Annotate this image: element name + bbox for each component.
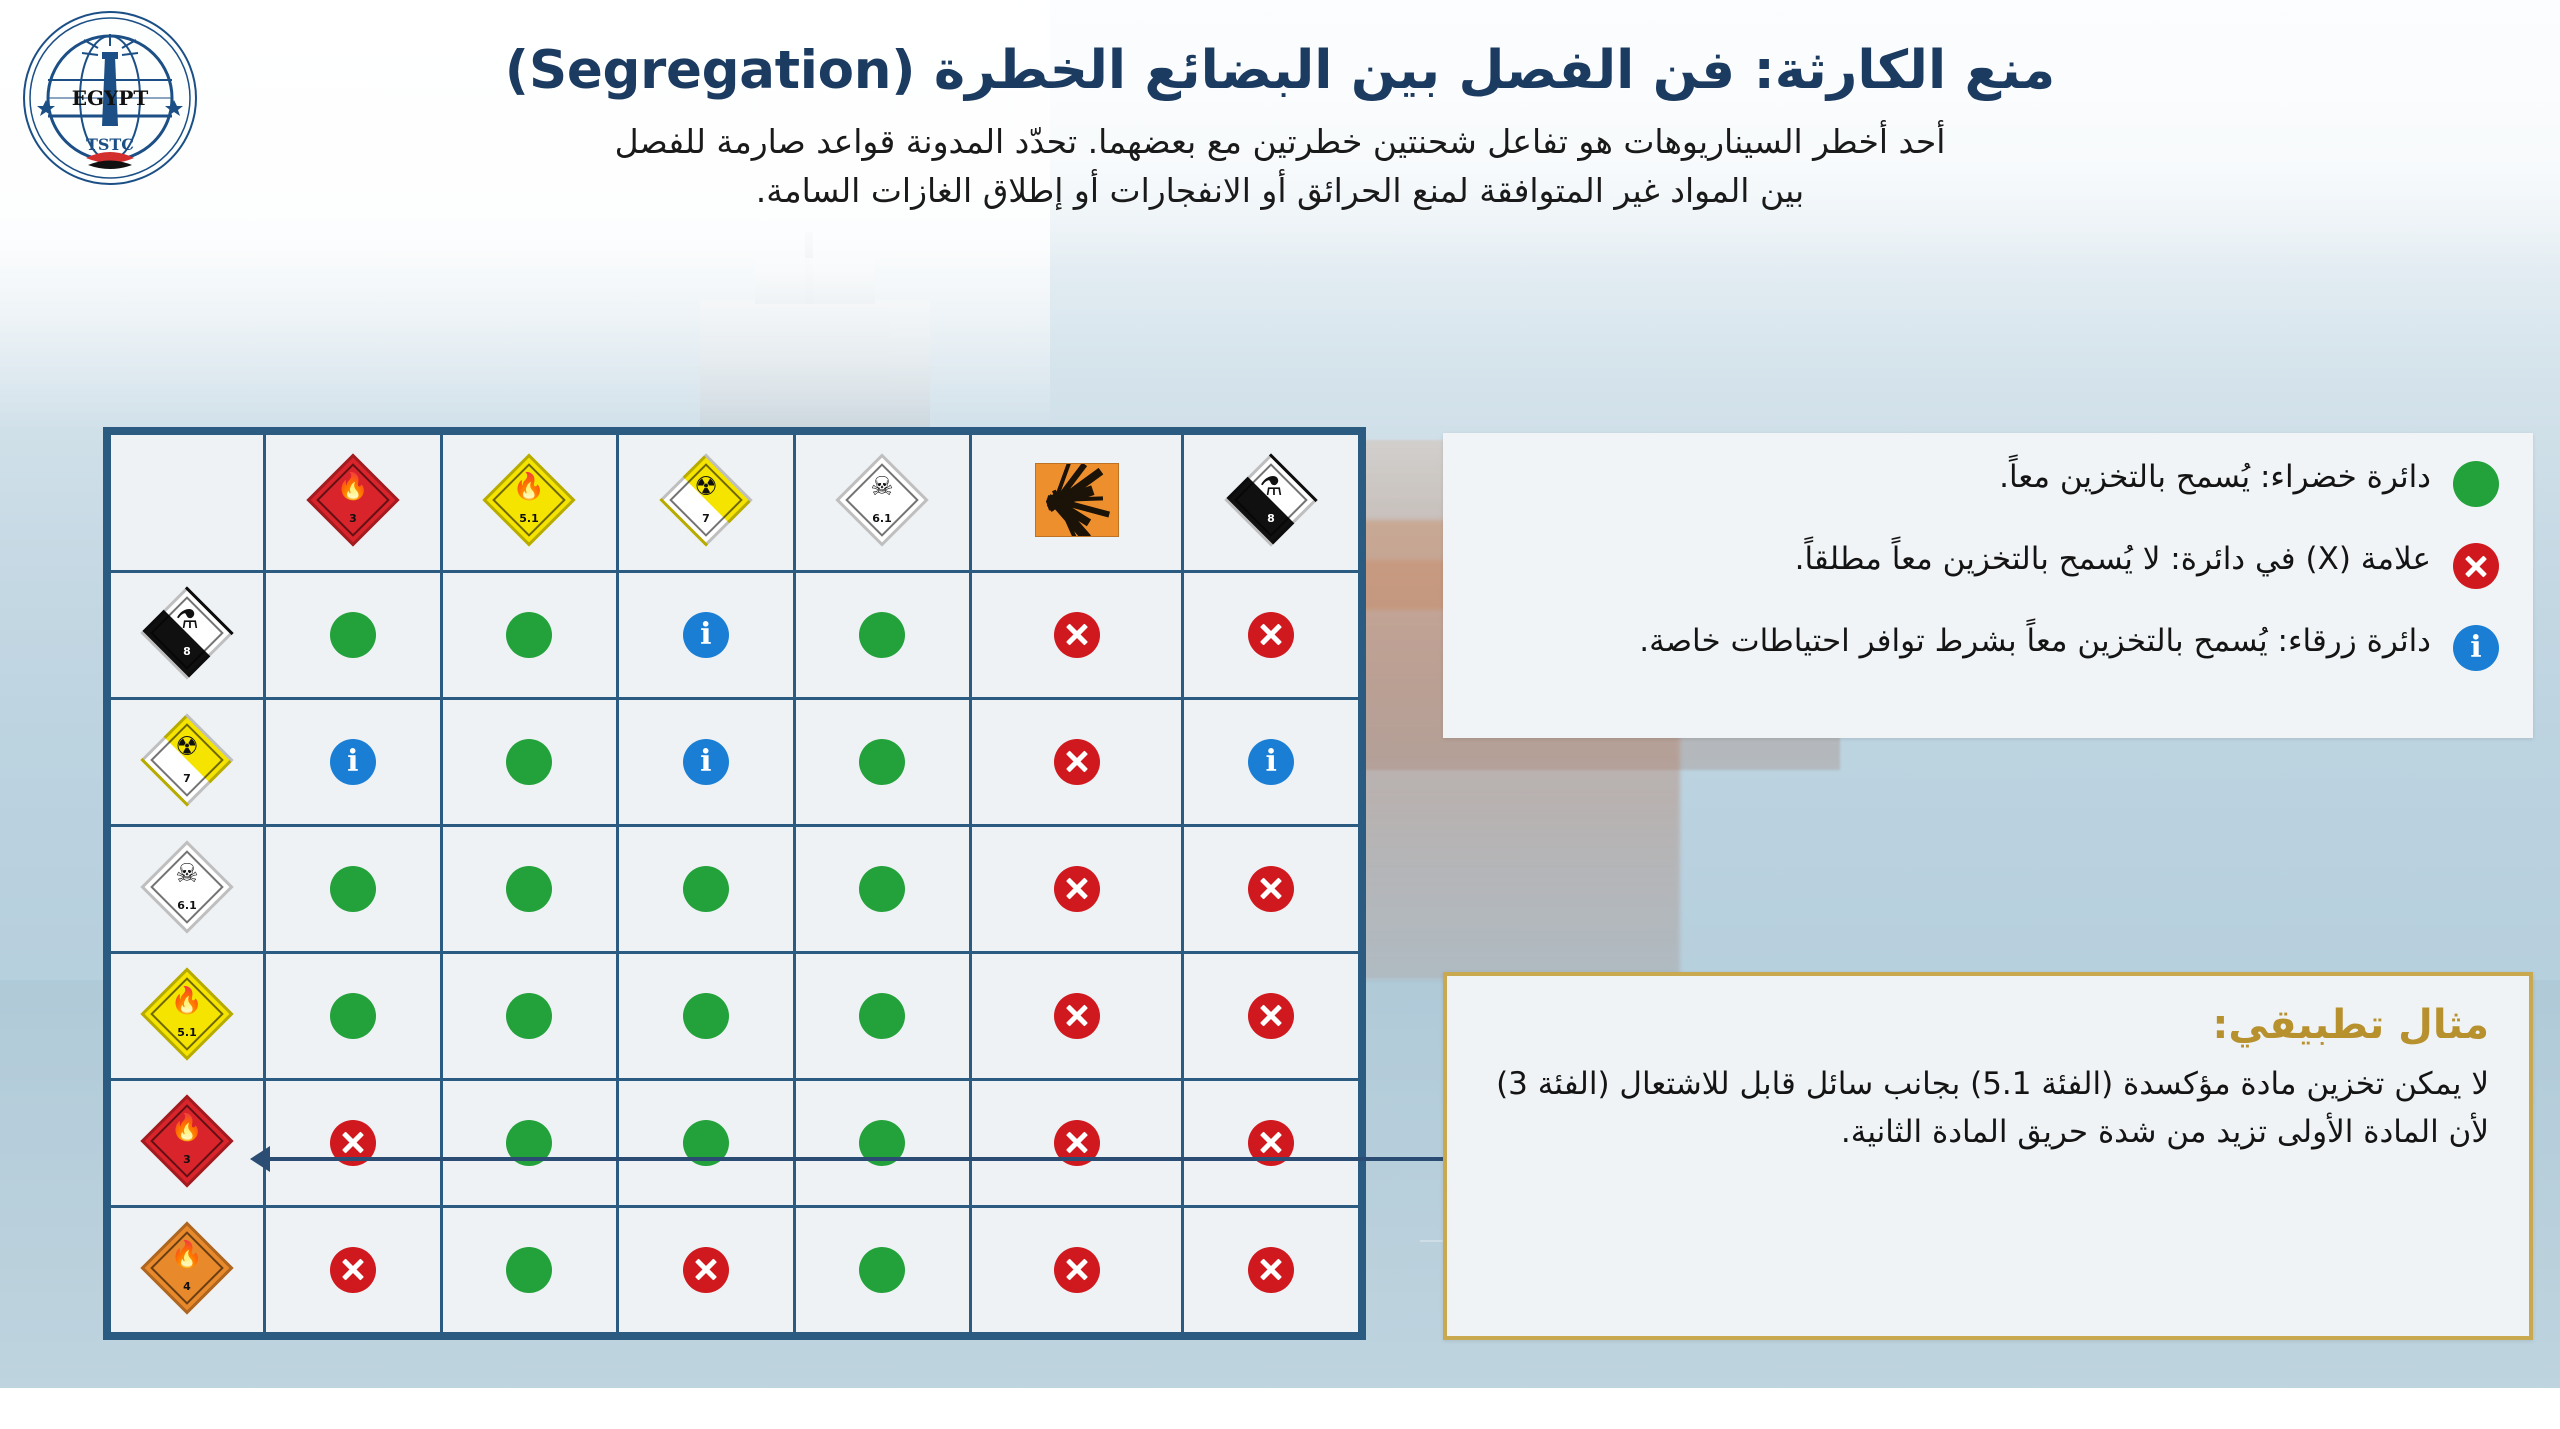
matrix-cell-flammable-liquid-toxic[interactable] bbox=[794, 1079, 971, 1206]
header: منع الكارثة: فن الفصل بين البضائع الخطرة… bbox=[210, 40, 2350, 216]
matrix-row-header-flammable-liquid: 🔥3 bbox=[110, 1079, 265, 1206]
infographic-slide: EGYPT TSTC منع الكارثة: فن الفصل بين الب… bbox=[0, 0, 2560, 1429]
matrix-column-header-explosive bbox=[971, 434, 1183, 572]
allowed-green-circle bbox=[859, 993, 905, 1039]
red-x-circle-icon bbox=[2453, 543, 2499, 593]
forbidden-red-x-circle bbox=[1054, 612, 1100, 658]
matrix-cell-oxidizer-corrosive[interactable] bbox=[1183, 952, 1360, 1079]
matrix-row-header-oxidizer: 🔥5.1 bbox=[110, 952, 265, 1079]
matrix-table: 🔥3🔥5.1☢7☠6.1⚗8⚗8i☢7iii☠6.1🔥5.1🔥3🔥4 bbox=[108, 432, 1361, 1335]
forbidden-red-x-circle bbox=[1248, 612, 1294, 658]
forbidden-red-x-circle bbox=[1248, 993, 1294, 1039]
forbidden-red-x-circle bbox=[1248, 1247, 1294, 1293]
page-subtitle: أحد أخطر السيناريوهات هو تفاعل شحنتين خط… bbox=[590, 117, 1970, 216]
matrix-cell-flammable-solid-flammable-liquid[interactable] bbox=[265, 1206, 442, 1333]
example-body: لا يمكن تخزين مادة مؤكسدة (الفئة 5.1) بج… bbox=[1487, 1060, 2489, 1156]
matrix-cell-oxidizer-oxidizer[interactable] bbox=[441, 952, 618, 1079]
svg-text:EGYPT: EGYPT bbox=[72, 86, 149, 110]
legend-item-label: دائرة خضراء: يُسمح بالتخزين معاً. bbox=[1473, 455, 2431, 500]
allowed-green-circle bbox=[330, 993, 376, 1039]
allowed-green-circle bbox=[683, 866, 729, 912]
matrix-row-header-radioactive: ☢7 bbox=[110, 698, 265, 825]
tstc-logo: EGYPT TSTC bbox=[20, 8, 200, 188]
allowed-green-circle bbox=[683, 993, 729, 1039]
matrix-cell-corrosive-toxic[interactable] bbox=[794, 571, 971, 698]
matrix-cell-flammable-solid-corrosive[interactable] bbox=[1183, 1206, 1360, 1333]
matrix-cell-toxic-toxic[interactable] bbox=[794, 825, 971, 952]
bottom-white-band bbox=[0, 1388, 2560, 1429]
matrix-cell-flammable-liquid-radioactive[interactable] bbox=[618, 1079, 795, 1206]
matrix-cell-toxic-corrosive[interactable] bbox=[1183, 825, 1360, 952]
matrix-row: 🔥3 bbox=[110, 1079, 1360, 1206]
allowed-green-circle bbox=[506, 1247, 552, 1293]
matrix-cell-oxidizer-explosive[interactable] bbox=[971, 952, 1183, 1079]
placard-radioactive: ☢7 bbox=[663, 457, 749, 547]
matrix-column-header-flammable-liquid: 🔥3 bbox=[265, 434, 442, 572]
allowed-green-circle bbox=[506, 739, 552, 785]
matrix-cell-toxic-explosive[interactable] bbox=[971, 825, 1183, 952]
matrix-row-header-corrosive: ⚗8 bbox=[110, 571, 265, 698]
matrix-cell-flammable-solid-oxidizer[interactable] bbox=[441, 1206, 618, 1333]
conditional-blue-info-circle: i bbox=[1248, 739, 1294, 785]
forbidden-red-x-circle bbox=[330, 1247, 376, 1293]
conditional-blue-info-circle: i bbox=[330, 739, 376, 785]
blue-info-circle-icon: i bbox=[2453, 625, 2499, 675]
matrix-column-header-toxic: ☠6.1 bbox=[794, 434, 971, 572]
matrix-column-header-corrosive: ⚗8 bbox=[1183, 434, 1360, 572]
forbidden-red-x-circle bbox=[1248, 866, 1294, 912]
matrix-cell-oxidizer-toxic[interactable] bbox=[794, 952, 971, 1079]
matrix-cell-flammable-solid-explosive[interactable] bbox=[971, 1206, 1183, 1333]
page-title: منع الكارثة: فن الفصل بين البضائع الخطرة… bbox=[210, 40, 2350, 103]
matrix-cell-oxidizer-radioactive[interactable] bbox=[618, 952, 795, 1079]
matrix-cell-flammable-solid-radioactive[interactable] bbox=[618, 1206, 795, 1333]
example-pointer-line bbox=[262, 1157, 1447, 1161]
placard-corrosive: ⚗8 bbox=[144, 590, 230, 680]
placard-flammable-solid: 🔥4 bbox=[144, 1225, 230, 1315]
svg-text:TSTC: TSTC bbox=[86, 135, 134, 154]
placard-flammable-liquid: 🔥3 bbox=[144, 1098, 230, 1188]
matrix-row: ☢7iii bbox=[110, 698, 1360, 825]
legend-panel: دائرة خضراء: يُسمح بالتخزين معاً. علامة … bbox=[1443, 433, 2533, 738]
matrix-cell-flammable-solid-toxic[interactable] bbox=[794, 1206, 971, 1333]
matrix-cell-toxic-radioactive[interactable] bbox=[618, 825, 795, 952]
forbidden-red-x-circle bbox=[1054, 993, 1100, 1039]
matrix-cell-flammable-liquid-corrosive[interactable] bbox=[1183, 1079, 1360, 1206]
matrix-row: ⚗8i bbox=[110, 571, 1360, 698]
matrix-cell-flammable-liquid-flammable-liquid[interactable] bbox=[265, 1079, 442, 1206]
example-title: مثال تطبيقي: bbox=[1487, 1002, 2489, 1048]
placard-corrosive: ⚗8 bbox=[1228, 457, 1314, 547]
green-circle-icon bbox=[2453, 461, 2499, 511]
placard-radioactive: ☢7 bbox=[144, 717, 230, 807]
legend-item: دائرة خضراء: يُسمح بالتخزين معاً. bbox=[1473, 455, 2499, 511]
placard-oxidizer: 🔥5.1 bbox=[486, 457, 572, 547]
matrix-row: ☠6.1 bbox=[110, 825, 1360, 952]
matrix-cell-corrosive-oxidizer[interactable] bbox=[441, 571, 618, 698]
forbidden-red-x-circle bbox=[683, 1247, 729, 1293]
matrix-cell-radioactive-toxic[interactable] bbox=[794, 698, 971, 825]
matrix-cell-corrosive-corrosive[interactable] bbox=[1183, 571, 1360, 698]
matrix-column-header-radioactive: ☢7 bbox=[618, 434, 795, 572]
matrix-row-header-toxic: ☠6.1 bbox=[110, 825, 265, 952]
matrix-cell-flammable-liquid-oxidizer[interactable] bbox=[441, 1079, 618, 1206]
matrix-cell-flammable-liquid-explosive[interactable] bbox=[971, 1079, 1183, 1206]
conditional-blue-info-circle: i bbox=[683, 739, 729, 785]
allowed-green-circle bbox=[506, 612, 552, 658]
forbidden-red-x-circle bbox=[1054, 1247, 1100, 1293]
matrix-row: 🔥5.1 bbox=[110, 952, 1360, 1079]
example-panel: مثال تطبيقي: لا يمكن تخزين مادة مؤكسدة (… bbox=[1443, 972, 2533, 1340]
allowed-green-circle bbox=[859, 739, 905, 785]
allowed-green-circle bbox=[506, 993, 552, 1039]
placard-toxic: ☠6.1 bbox=[839, 457, 925, 547]
matrix-cell-radioactive-explosive[interactable] bbox=[971, 698, 1183, 825]
legend-item-label: دائرة زرقاء: يُسمح بالتخزين معاً بشرط تو… bbox=[1473, 619, 2431, 664]
matrix-cell-oxidizer-flammable-liquid[interactable] bbox=[265, 952, 442, 1079]
matrix-header-row: 🔥3🔥5.1☢7☠6.1⚗8 bbox=[110, 434, 1360, 572]
matrix-cell-corrosive-flammable-liquid[interactable] bbox=[265, 571, 442, 698]
placard-explosive bbox=[1025, 453, 1129, 551]
example-pointer-arrowhead bbox=[250, 1146, 270, 1172]
matrix-cell-toxic-flammable-liquid[interactable] bbox=[265, 825, 442, 952]
allowed-green-circle bbox=[859, 612, 905, 658]
matrix-cell-corrosive-explosive[interactable] bbox=[971, 571, 1183, 698]
allowed-green-circle bbox=[330, 866, 376, 912]
placard-toxic: ☠6.1 bbox=[144, 844, 230, 934]
matrix-cell-corrosive-radioactive[interactable]: i bbox=[618, 571, 795, 698]
matrix-column-header-oxidizer: 🔥5.1 bbox=[441, 434, 618, 572]
matrix-cell-radioactive-oxidizer[interactable] bbox=[441, 698, 618, 825]
matrix-corner-cell bbox=[110, 434, 265, 572]
placard-flammable-liquid: 🔥3 bbox=[310, 457, 396, 547]
placard-oxidizer: 🔥5.1 bbox=[144, 971, 230, 1061]
allowed-green-circle bbox=[859, 1247, 905, 1293]
forbidden-red-x-circle bbox=[1054, 739, 1100, 785]
allowed-green-circle bbox=[330, 612, 376, 658]
matrix-row-header-flammable-solid: 🔥4 bbox=[110, 1206, 265, 1333]
forbidden-red-x-circle bbox=[1054, 866, 1100, 912]
matrix-cell-radioactive-radioactive[interactable]: i bbox=[618, 698, 795, 825]
matrix-cell-radioactive-corrosive[interactable]: i bbox=[1183, 698, 1360, 825]
legend-item: علامة (X) في دائرة: لا يُسمح بالتخزين مع… bbox=[1473, 537, 2499, 593]
legend-item: i دائرة زرقاء: يُسمح بالتخزين معاً بشرط … bbox=[1473, 619, 2499, 675]
matrix-cell-radioactive-flammable-liquid[interactable]: i bbox=[265, 698, 442, 825]
legend-item-label: علامة (X) في دائرة: لا يُسمح بالتخزين مع… bbox=[1473, 537, 2431, 582]
allowed-green-circle bbox=[859, 866, 905, 912]
matrix-row: 🔥4 bbox=[110, 1206, 1360, 1333]
allowed-green-circle bbox=[506, 866, 552, 912]
matrix-cell-toxic-oxidizer[interactable] bbox=[441, 825, 618, 952]
conditional-blue-info-circle: i bbox=[683, 612, 729, 658]
segregation-matrix: 🔥3🔥5.1☢7☠6.1⚗8⚗8i☢7iii☠6.1🔥5.1🔥3🔥4 bbox=[103, 427, 1366, 1340]
